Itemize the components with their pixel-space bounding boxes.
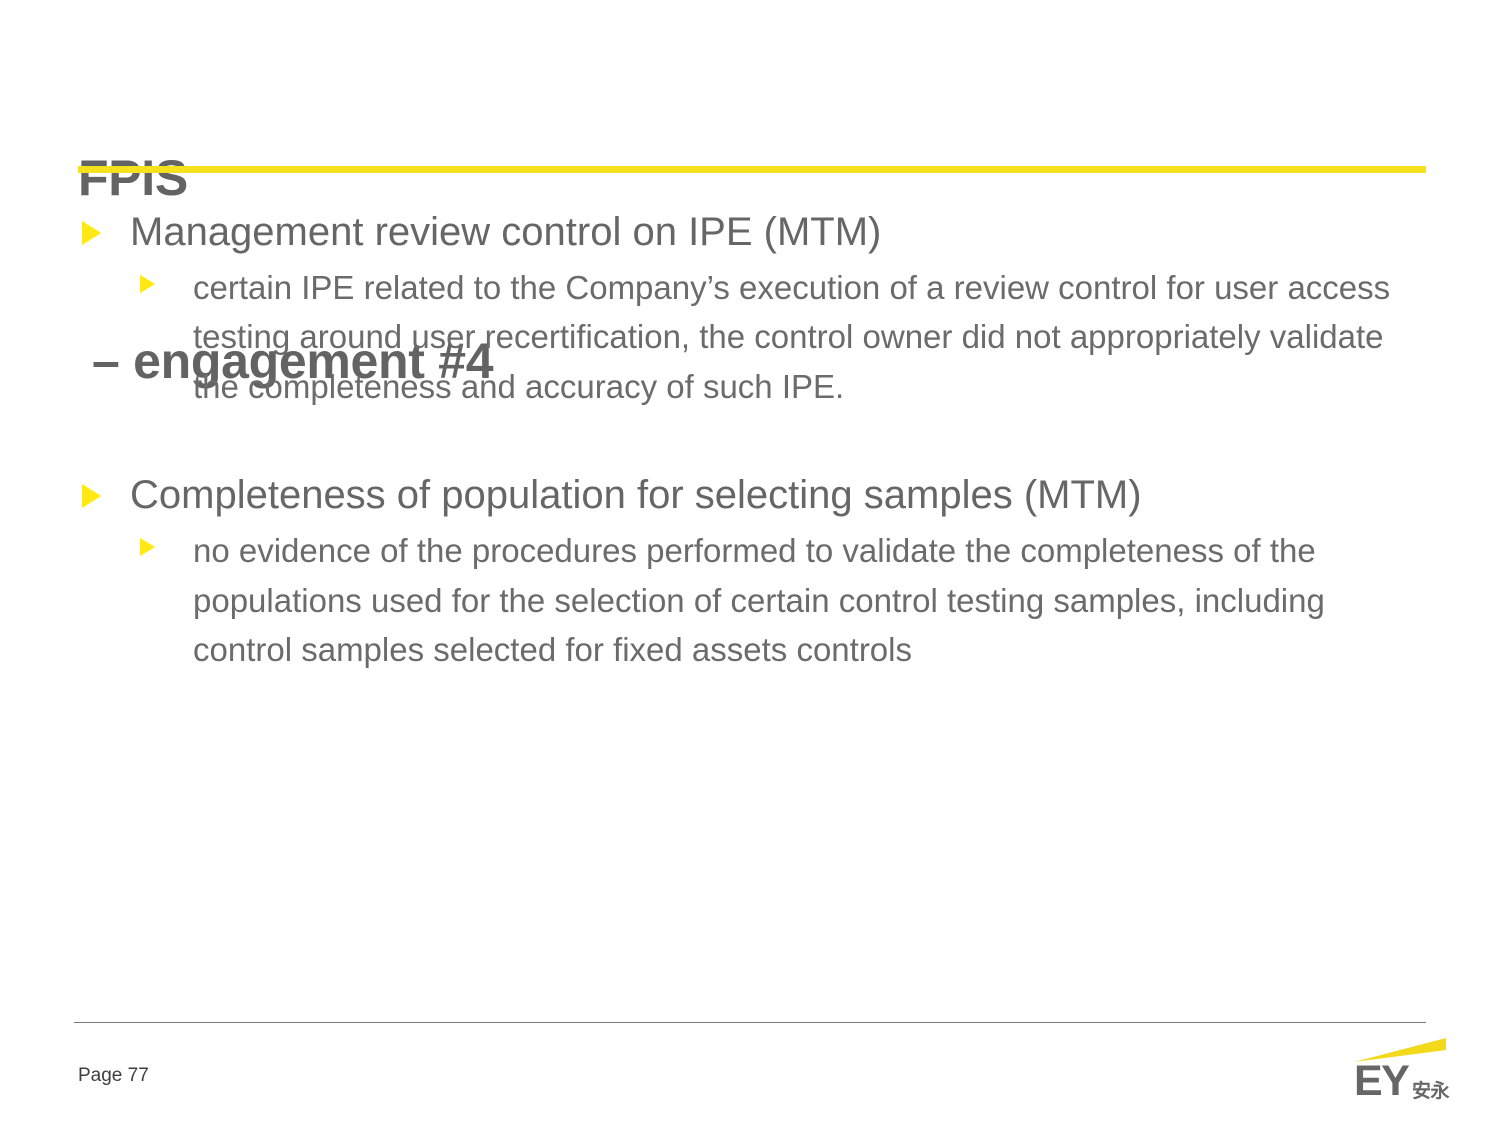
- ey-logo: EY 安永: [1346, 1036, 1456, 1108]
- slide-body: Management review control on IPE (MTM) c…: [78, 208, 1428, 675]
- triangle-bullet-icon: [140, 275, 155, 293]
- bullet-group-1: Management review control on IPE (MTM) c…: [78, 208, 1428, 411]
- bullet-group-2: Completeness of population for selecting…: [78, 471, 1428, 674]
- bullet-group-spacer: [78, 411, 1428, 471]
- bullet-level1-label: Management review control on IPE (MTM): [130, 210, 881, 254]
- title-line-primary: FPIS: [78, 148, 1426, 209]
- ey-wordmark: EY: [1354, 1060, 1408, 1103]
- bullet-level2: no evidence of the procedures performed …: [78, 526, 1428, 675]
- footer-divider: [74, 1022, 1426, 1023]
- triangle-bullet-icon: [82, 221, 101, 245]
- bullet-level1: Management review control on IPE (MTM): [78, 208, 1428, 257]
- title-accent-rule: [78, 166, 1426, 173]
- ey-chinese-name: 安永: [1412, 1082, 1449, 1101]
- slide: FPIS – engagement #4 Management review c…: [0, 0, 1500, 1125]
- triangle-bullet-icon: [140, 538, 155, 556]
- bullet-level1-label: Completeness of population for selecting…: [130, 473, 1142, 517]
- bullet-level1: Completeness of population for selecting…: [78, 471, 1428, 520]
- page-number: Page 77: [78, 1065, 149, 1087]
- triangle-bullet-icon: [82, 484, 101, 508]
- bullet-level2-label: no evidence of the procedures performed …: [193, 526, 1418, 675]
- bullet-level2-label: certain IPE related to the Company’s exe…: [193, 263, 1418, 412]
- bullet-level2: certain IPE related to the Company’s exe…: [78, 263, 1428, 412]
